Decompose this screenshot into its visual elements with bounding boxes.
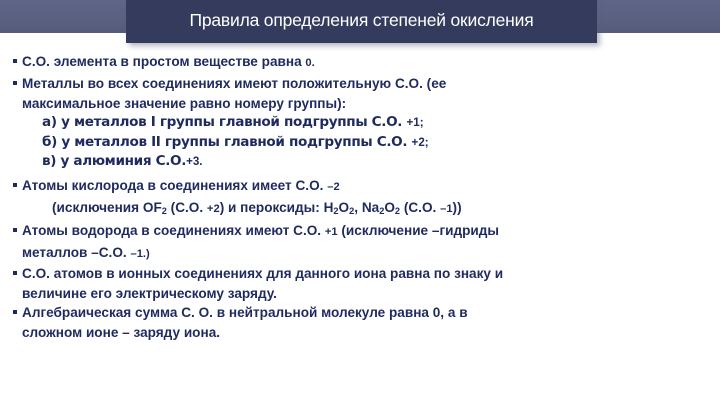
list-item: С.О. элемента в простом веществе равна 0… bbox=[0, 52, 720, 73]
formula-part: (С.О. bbox=[167, 200, 207, 215]
formula-line: (исключения OF2 (С.О. +2) и пероксиды: H… bbox=[0, 198, 720, 221]
rule-text: Металлы во всех соединениях имеют положи… bbox=[22, 76, 446, 91]
list-item: Атомы водорода в соединениях имеют С.О. … bbox=[0, 221, 720, 242]
rules-list: С.О. элемента в простом веществе равна 0… bbox=[0, 52, 720, 402]
square-bullet-icon bbox=[13, 228, 17, 232]
rule-continuation-text: металлов –С.О. bbox=[22, 245, 130, 260]
rule-value: +2; bbox=[412, 136, 429, 149]
formula-part: , Na bbox=[354, 200, 379, 215]
formula-value: +2 bbox=[207, 203, 220, 215]
rule-text: С.О. атомов в ионных соединениях для дан… bbox=[22, 266, 503, 281]
square-bullet-icon bbox=[13, 183, 17, 187]
list-item: Алгебраическая сумма С. О. в нейтральной… bbox=[0, 303, 720, 322]
rule-text-b: (исключение –гидриды bbox=[338, 223, 499, 238]
rule-value: +1; bbox=[407, 116, 424, 129]
rule-label: а) у металлов I группы главной подгруппы… bbox=[42, 114, 407, 130]
list-item-b: б) у металлов II группы главной подгрупп… bbox=[0, 133, 720, 153]
formula-part: O bbox=[339, 200, 350, 215]
title-box: Правила определения степеней окисления bbox=[126, 0, 597, 43]
formula-value: –1 bbox=[440, 203, 452, 215]
rule-continuation: максимальное значение равно номеру групп… bbox=[0, 94, 720, 113]
square-bullet-icon bbox=[13, 271, 17, 275]
formula-part: )) bbox=[453, 200, 462, 215]
list-item: Металлы во всех соединениях имеют положи… bbox=[0, 74, 720, 93]
page-title: Правила определения степеней окисления bbox=[189, 12, 533, 32]
rule-text: Атомы кислорода в соединениях имеет С.О. bbox=[22, 178, 327, 193]
list-item-v: в) у алюминия С.О.+3. bbox=[0, 152, 720, 172]
rule-text: Атомы водорода в соединениях имеют С.О. bbox=[22, 223, 325, 238]
formula-part: (исключения OF bbox=[52, 200, 162, 215]
rule-continuation-value: –1.) bbox=[130, 248, 149, 260]
rule-value: +3. bbox=[186, 155, 202, 168]
rule-text: Алгебраическая сумма С. О. в нейтральной… bbox=[22, 305, 468, 320]
rule-value: –2 bbox=[327, 181, 339, 193]
list-item: С.О. атомов в ионных соединениях для дан… bbox=[0, 264, 720, 283]
square-bullet-icon bbox=[13, 81, 17, 85]
square-bullet-icon bbox=[13, 59, 17, 63]
formula-part: O bbox=[384, 200, 395, 215]
rule-label: б) у металлов II группы главной подгрупп… bbox=[42, 134, 412, 150]
rule-continuation: величине его электрическому заряду. bbox=[0, 284, 720, 303]
formula-part: (С.О. bbox=[400, 200, 440, 215]
square-bullet-icon bbox=[13, 310, 17, 314]
rule-value: 0. bbox=[305, 57, 314, 69]
formula-part: ) и пероксиды: H bbox=[220, 200, 334, 215]
rule-continuation: металлов –С.О. –1.) bbox=[0, 243, 720, 264]
list-item: Атомы кислорода в соединениях имеет С.О.… bbox=[0, 176, 720, 197]
rule-value: +1 bbox=[325, 226, 338, 238]
rule-label: в) у алюминия С.О. bbox=[42, 153, 186, 169]
rule-text: С.О. элемента в простом веществе равна bbox=[22, 54, 305, 69]
list-item-a: а) у металлов I группы главной подгруппы… bbox=[0, 113, 720, 133]
rule-continuation: сложном ионе – заряду иона. bbox=[0, 323, 720, 342]
